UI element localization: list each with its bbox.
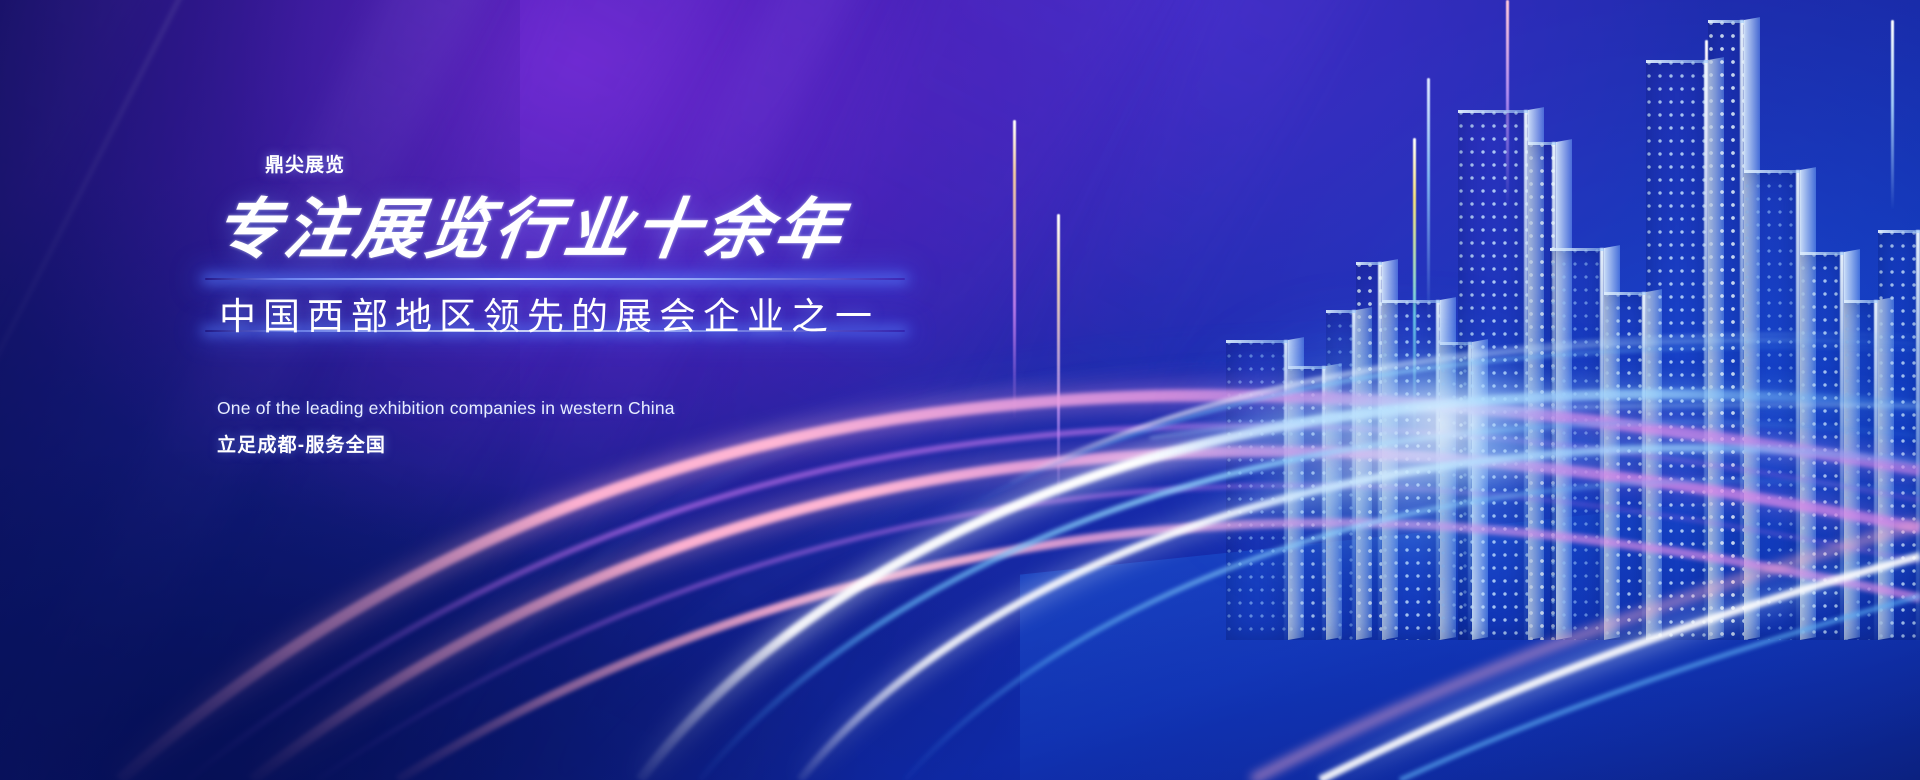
building-edge-highlight bbox=[1796, 170, 1800, 640]
roadway-rail bbox=[1150, 405, 1920, 438]
building-side-face bbox=[1878, 297, 1894, 640]
building-side-face bbox=[1440, 297, 1456, 640]
building-edge-highlight bbox=[1284, 340, 1288, 640]
tower-mid-b bbox=[1440, 342, 1472, 640]
tower-mid-c bbox=[1550, 248, 1604, 640]
building-edge-highlight bbox=[1436, 300, 1440, 640]
antenna-5-icon bbox=[1705, 40, 1708, 270]
tower-mid-d bbox=[1604, 292, 1646, 640]
trail-br-white bbox=[1320, 556, 1920, 780]
building-edge-highlight bbox=[1840, 252, 1844, 640]
tower-mid-a bbox=[1382, 300, 1440, 640]
antenna-4-icon bbox=[1427, 78, 1430, 318]
building-edge-highlight bbox=[1916, 230, 1920, 640]
tower-mid-tall bbox=[1356, 262, 1382, 640]
building-edge-highlight bbox=[1740, 20, 1744, 640]
tower-right-a bbox=[1744, 170, 1800, 640]
headline-glow-rule bbox=[205, 278, 905, 280]
building-side-face bbox=[1844, 249, 1860, 640]
tower-left-b bbox=[1288, 366, 1326, 640]
building-side-face bbox=[1472, 339, 1488, 640]
building-side-face bbox=[1288, 337, 1304, 640]
antenna-7-icon bbox=[1891, 20, 1894, 210]
tower-left-c bbox=[1326, 310, 1356, 640]
slogan: 立足成都-服务全国 bbox=[217, 430, 386, 457]
building-side-face bbox=[1744, 17, 1760, 640]
building-edge-highlight bbox=[1552, 142, 1556, 640]
subheadline: 中国西部地区领先的展会企业之一 bbox=[219, 286, 879, 340]
tower-tall-1 bbox=[1458, 110, 1528, 640]
trail-br-white-glow bbox=[1320, 556, 1920, 780]
tower-tall-3 bbox=[1646, 60, 1708, 640]
building-edge-highlight bbox=[1704, 60, 1708, 640]
city-skyline bbox=[1160, 0, 1920, 640]
building-edge-highlight bbox=[1468, 342, 1472, 640]
hero-banner: 鼎尖展览 专注展览行业十余年 中国西部地区领先的展会企业之一 One of th… bbox=[0, 0, 1920, 780]
light-focal-core bbox=[1330, 350, 1560, 500]
building-side-face bbox=[1708, 57, 1724, 640]
english-tagline: One of the leading exhibition companies … bbox=[217, 398, 675, 419]
building-side-face bbox=[1382, 259, 1398, 640]
light-focal-glow bbox=[1180, 300, 1610, 600]
building-side-face bbox=[1326, 363, 1342, 640]
headline: 专注展览行业十余年 bbox=[210, 196, 849, 262]
tower-right-b bbox=[1800, 252, 1844, 640]
ground-plane bbox=[1020, 480, 1920, 780]
antenna-3-icon bbox=[1413, 138, 1416, 438]
trail-thin-upper-a bbox=[980, 347, 1920, 501]
building-edge-highlight bbox=[1322, 366, 1326, 640]
building-edge-highlight bbox=[1642, 292, 1646, 640]
trail-br-pink bbox=[1252, 524, 1920, 780]
building-side-face bbox=[1646, 289, 1662, 640]
building-edge-highlight bbox=[1378, 262, 1382, 640]
banner-copy: 鼎尖展览 专注展览行业十余年 中国西部地区领先的展会企业之一 One of th… bbox=[215, 0, 1115, 780]
building-edge-highlight bbox=[1874, 300, 1878, 640]
brand-name: 鼎尖展览 bbox=[265, 150, 345, 177]
light-beam bbox=[0, 0, 98, 780]
tower-left-a bbox=[1226, 340, 1288, 640]
trail-thin-upper-b bbox=[1010, 340, 1920, 482]
building-side-face bbox=[1528, 107, 1544, 640]
building-side-face bbox=[1800, 167, 1816, 640]
tower-right-c bbox=[1844, 300, 1878, 640]
trail-thin-upper-c bbox=[1060, 334, 1920, 462]
building-edge-highlight bbox=[1352, 310, 1356, 640]
tower-right-d bbox=[1878, 230, 1920, 640]
trail-br-blue bbox=[1400, 596, 1920, 780]
antenna-6-icon bbox=[1506, 0, 1509, 210]
building-side-face bbox=[1356, 307, 1372, 640]
building-edge-highlight bbox=[1524, 110, 1528, 640]
tower-tall-2 bbox=[1528, 142, 1556, 640]
building-side-face bbox=[1604, 245, 1620, 640]
building-side-face bbox=[1556, 139, 1572, 640]
building-edge-highlight bbox=[1600, 248, 1604, 640]
tower-crown bbox=[1708, 20, 1744, 640]
